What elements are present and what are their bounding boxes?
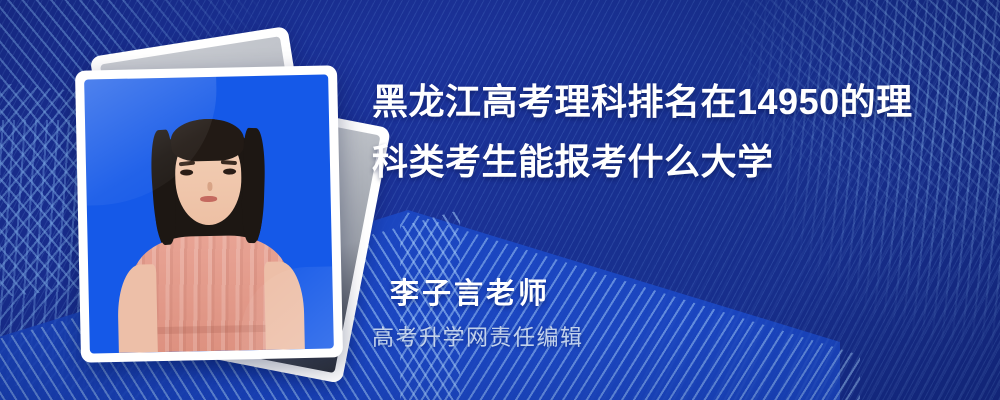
portrait-mouth: [200, 196, 217, 202]
author-photo-card: [75, 65, 343, 362]
author-role: 高考升学网责任编辑: [372, 320, 584, 352]
portrait-nose: [207, 182, 213, 191]
article-title-line-2: 科类考生能报考什么大学: [372, 132, 942, 192]
author-photo: [84, 74, 334, 353]
photo-card-stack: [60, 30, 380, 380]
portrait-hair-strand-right: [241, 128, 267, 244]
portrait-shoulder-left: [117, 264, 158, 352]
article-title-line-1: 黑龙江高考理科排名在14950的理: [372, 72, 942, 132]
banner-text-block: 黑龙江高考理科排名在14950的理 科类考生能报考什么大学 李子言老师 高考升学…: [372, 0, 972, 400]
article-title: 黑龙江高考理科排名在14950的理 科类考生能报考什么大学: [372, 72, 942, 192]
article-hero-banner: 黑龙江高考理科排名在14950的理 科类考生能报考什么大学 李子言老师 高考升学…: [0, 0, 1000, 400]
portrait-eyebrow-right: [221, 160, 237, 165]
author-name: 李子言老师: [390, 270, 550, 312]
